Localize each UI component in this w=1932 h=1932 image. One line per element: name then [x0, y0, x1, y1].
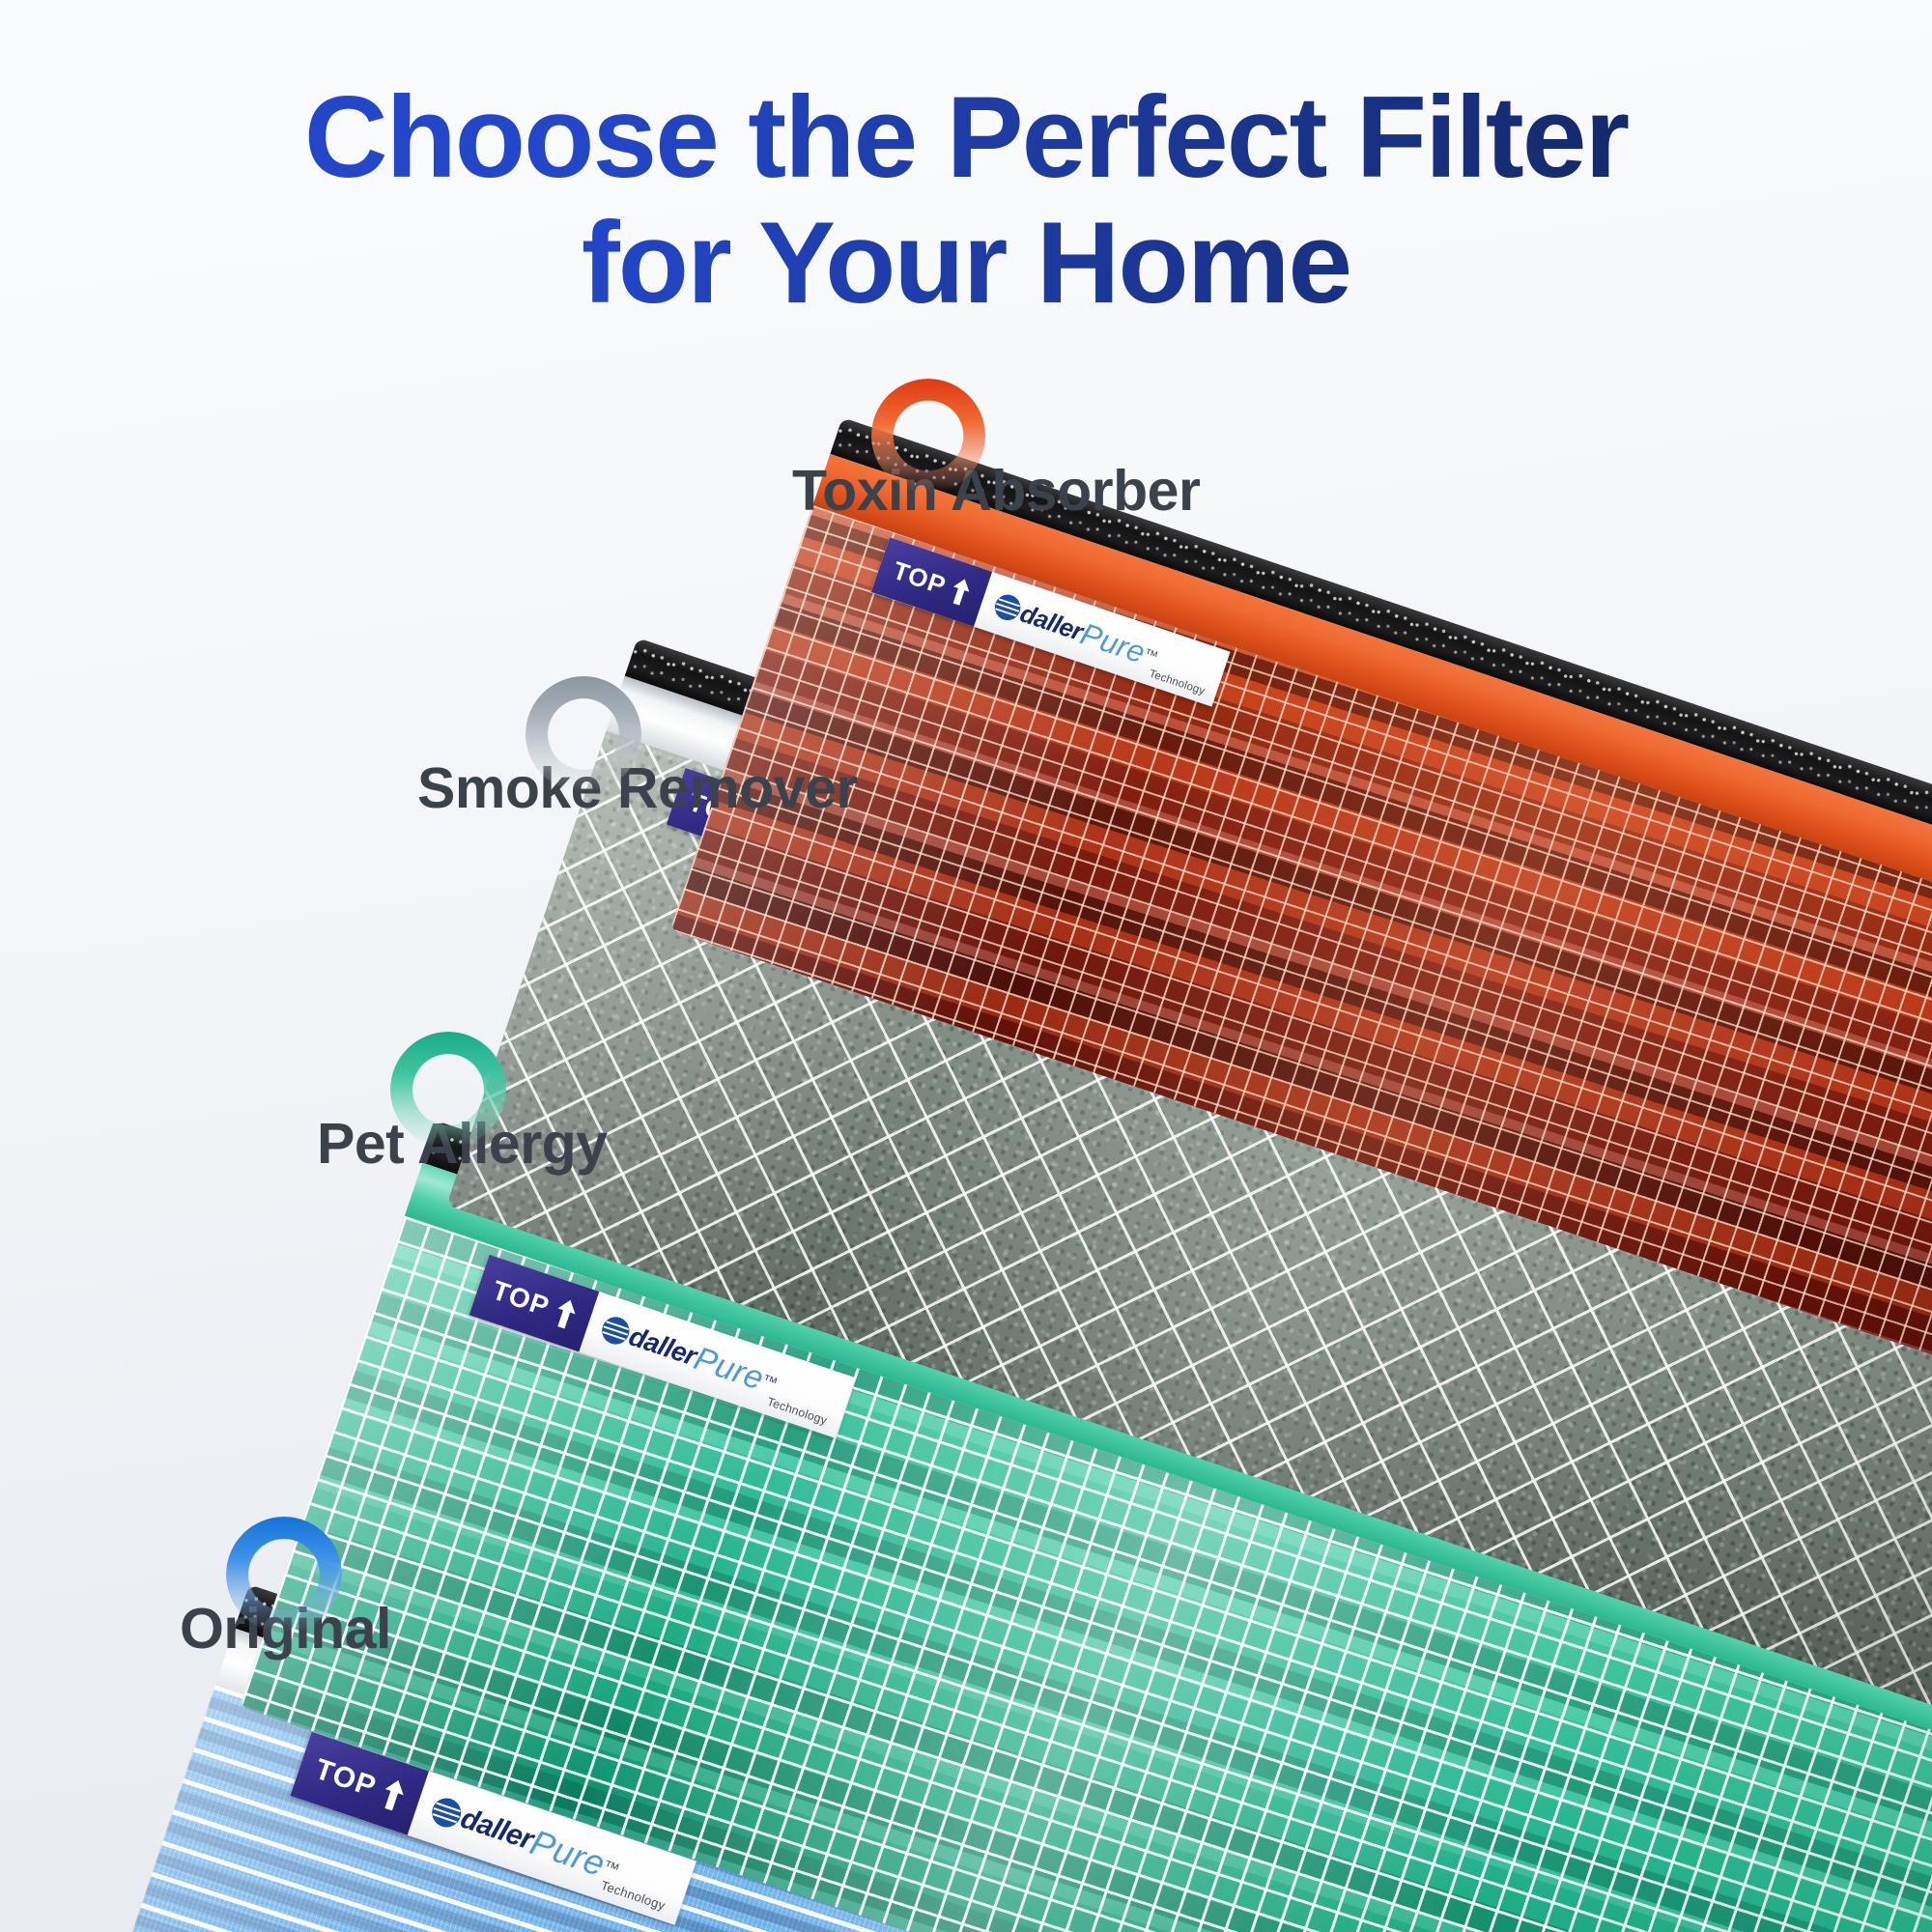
up-arrow-icon	[948, 575, 975, 608]
poster-canvas: Choose the Perfect Filter for Your Home …	[0, 0, 1932, 1932]
top-label: TOP	[489, 1275, 554, 1323]
category-label-text: Smoke Remover	[417, 755, 858, 821]
headline-line-1: Choose the Perfect Filter	[304, 72, 1628, 202]
trademark-symbol: ™	[1142, 646, 1160, 666]
brand-name-primary: daller	[456, 1803, 536, 1858]
category-label-pet-allergy[interactable]: Pet Allergy	[375, 1032, 608, 1177]
brand-name-secondary: Pure	[526, 1822, 611, 1885]
category-label-original[interactable]: Original	[211, 1517, 391, 1662]
donut-ring-icon-smoke-remover	[526, 676, 641, 792]
page-title: Choose the Perfect Filter for Your Home	[0, 75, 1932, 326]
brand-name-primary: daller	[1016, 598, 1087, 647]
brand-name-secondary: Pure	[1076, 615, 1151, 670]
brand-name-secondary: Pure	[689, 1340, 768, 1398]
category-label-toxin-absorber[interactable]: Toxin Absorber	[856, 379, 1200, 524]
headline-line-2: for Your Home	[0, 201, 1932, 327]
donut-ring-icon-original	[226, 1517, 342, 1633]
up-arrow-icon	[378, 1776, 409, 1813]
category-label-smoke-remover[interactable]: Smoke Remover	[510, 676, 858, 821]
up-arrow-icon	[551, 1295, 580, 1331]
brand-name-primary: daller	[625, 1321, 700, 1372]
donut-ring-icon-pet-allergy	[390, 1032, 506, 1148]
top-label: TOP	[311, 1753, 381, 1804]
top-label: TOP	[890, 555, 951, 601]
category-label-text: Toxin Absorber	[792, 458, 1200, 524]
donut-ring-icon-toxin-absorber	[871, 379, 985, 493]
